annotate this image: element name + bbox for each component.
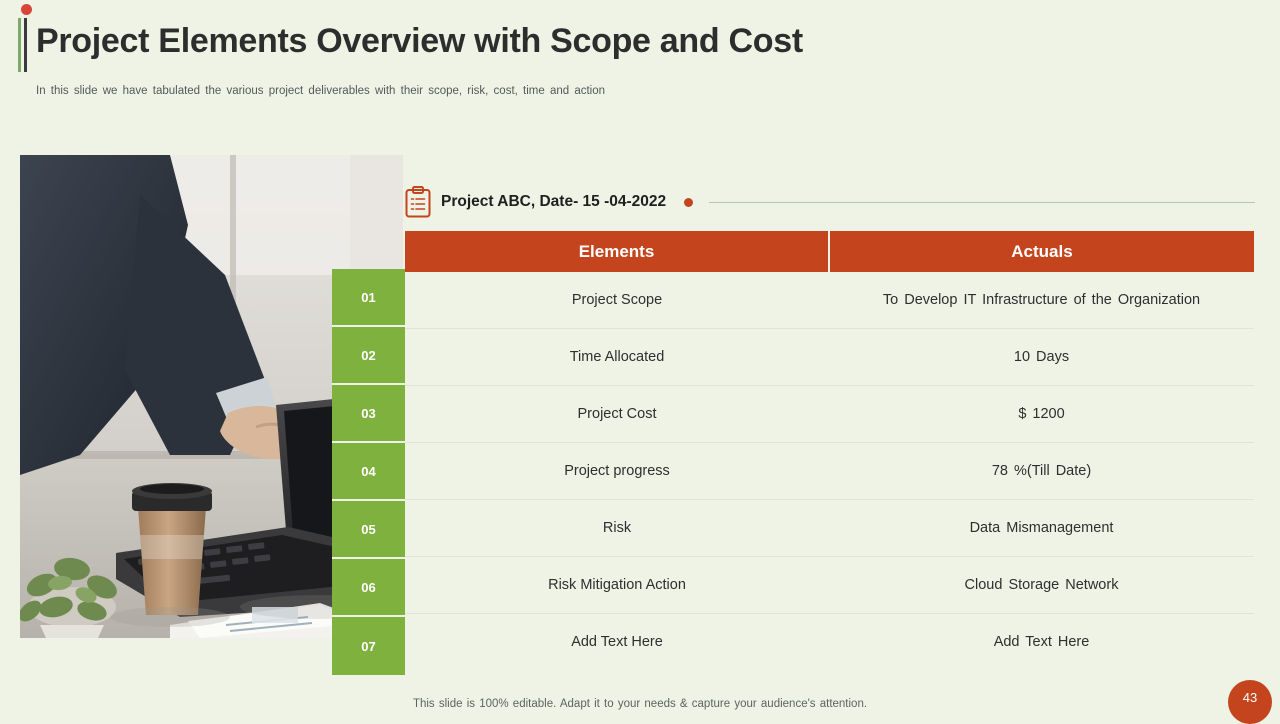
cell-actual: $ 1200 <box>829 386 1254 442</box>
row-number: 06 <box>332 559 405 617</box>
cell-actual: Cloud Storage Network <box>829 557 1254 613</box>
table-row: Project Cost $ 1200 <box>405 386 1254 443</box>
page-subtitle: In this slide we have tabulated the vari… <box>36 85 605 97</box>
cell-element: Project Cost <box>405 386 829 442</box>
row-number: 01 <box>332 269 405 327</box>
table-row: Risk Data Mismanagement <box>405 500 1254 557</box>
column-header-elements: Elements <box>405 231 828 272</box>
table-row: Add Text Here Add Text Here <box>405 614 1254 670</box>
cell-element: Project Scope <box>405 272 829 328</box>
accent-dot <box>21 4 32 15</box>
table-row: Risk Mitigation Action Cloud Storage Net… <box>405 557 1254 614</box>
cell-element: Add Text Here <box>405 614 829 670</box>
cell-actual: Add Text Here <box>829 614 1254 670</box>
table-row: Time Allocated 10 Days <box>405 329 1254 386</box>
title-rule-dark <box>24 18 27 72</box>
table-row: Project progress 78 %(Till Date) <box>405 443 1254 500</box>
project-bullet-dot <box>684 198 693 207</box>
table-body: Project Scope To Develop IT Infrastructu… <box>405 272 1254 670</box>
cell-element: Project progress <box>405 443 829 499</box>
project-divider <box>709 202 1255 203</box>
cell-actual: 10 Days <box>829 329 1254 385</box>
page-number-badge: 43 <box>1228 680 1272 724</box>
footer-note: This slide is 100% editable. Adapt it to… <box>0 698 1280 710</box>
project-label: Project ABC, Date- 15 -04-2022 <box>441 193 666 211</box>
cell-actual: 78 %(Till Date) <box>829 443 1254 499</box>
project-header: Project ABC, Date- 15 -04-2022 <box>405 180 1255 224</box>
elements-table: Elements Actuals Project Scope To Develo… <box>405 231 1254 670</box>
column-header-actuals: Actuals <box>828 231 1254 272</box>
cell-element: Risk Mitigation Action <box>405 557 829 613</box>
row-number: 05 <box>332 501 405 559</box>
page-title: Project Elements Overview with Scope and… <box>36 22 803 61</box>
table-row: Project Scope To Develop IT Infrastructu… <box>405 272 1254 329</box>
row-number: 03 <box>332 385 405 443</box>
cell-element: Time Allocated <box>405 329 829 385</box>
row-number: 04 <box>332 443 405 501</box>
row-number: 07 <box>332 617 405 675</box>
cell-element: Risk <box>405 500 829 556</box>
row-number: 02 <box>332 327 405 385</box>
cell-actual: To Develop IT Infrastructure of the Orga… <box>829 272 1254 328</box>
row-number-strip: 01 02 03 04 05 06 07 <box>332 269 405 675</box>
cell-actual: Data Mismanagement <box>829 500 1254 556</box>
title-rule-green <box>18 18 21 72</box>
table-header-row: Elements Actuals <box>405 231 1254 272</box>
clipboard-icon <box>405 186 431 218</box>
